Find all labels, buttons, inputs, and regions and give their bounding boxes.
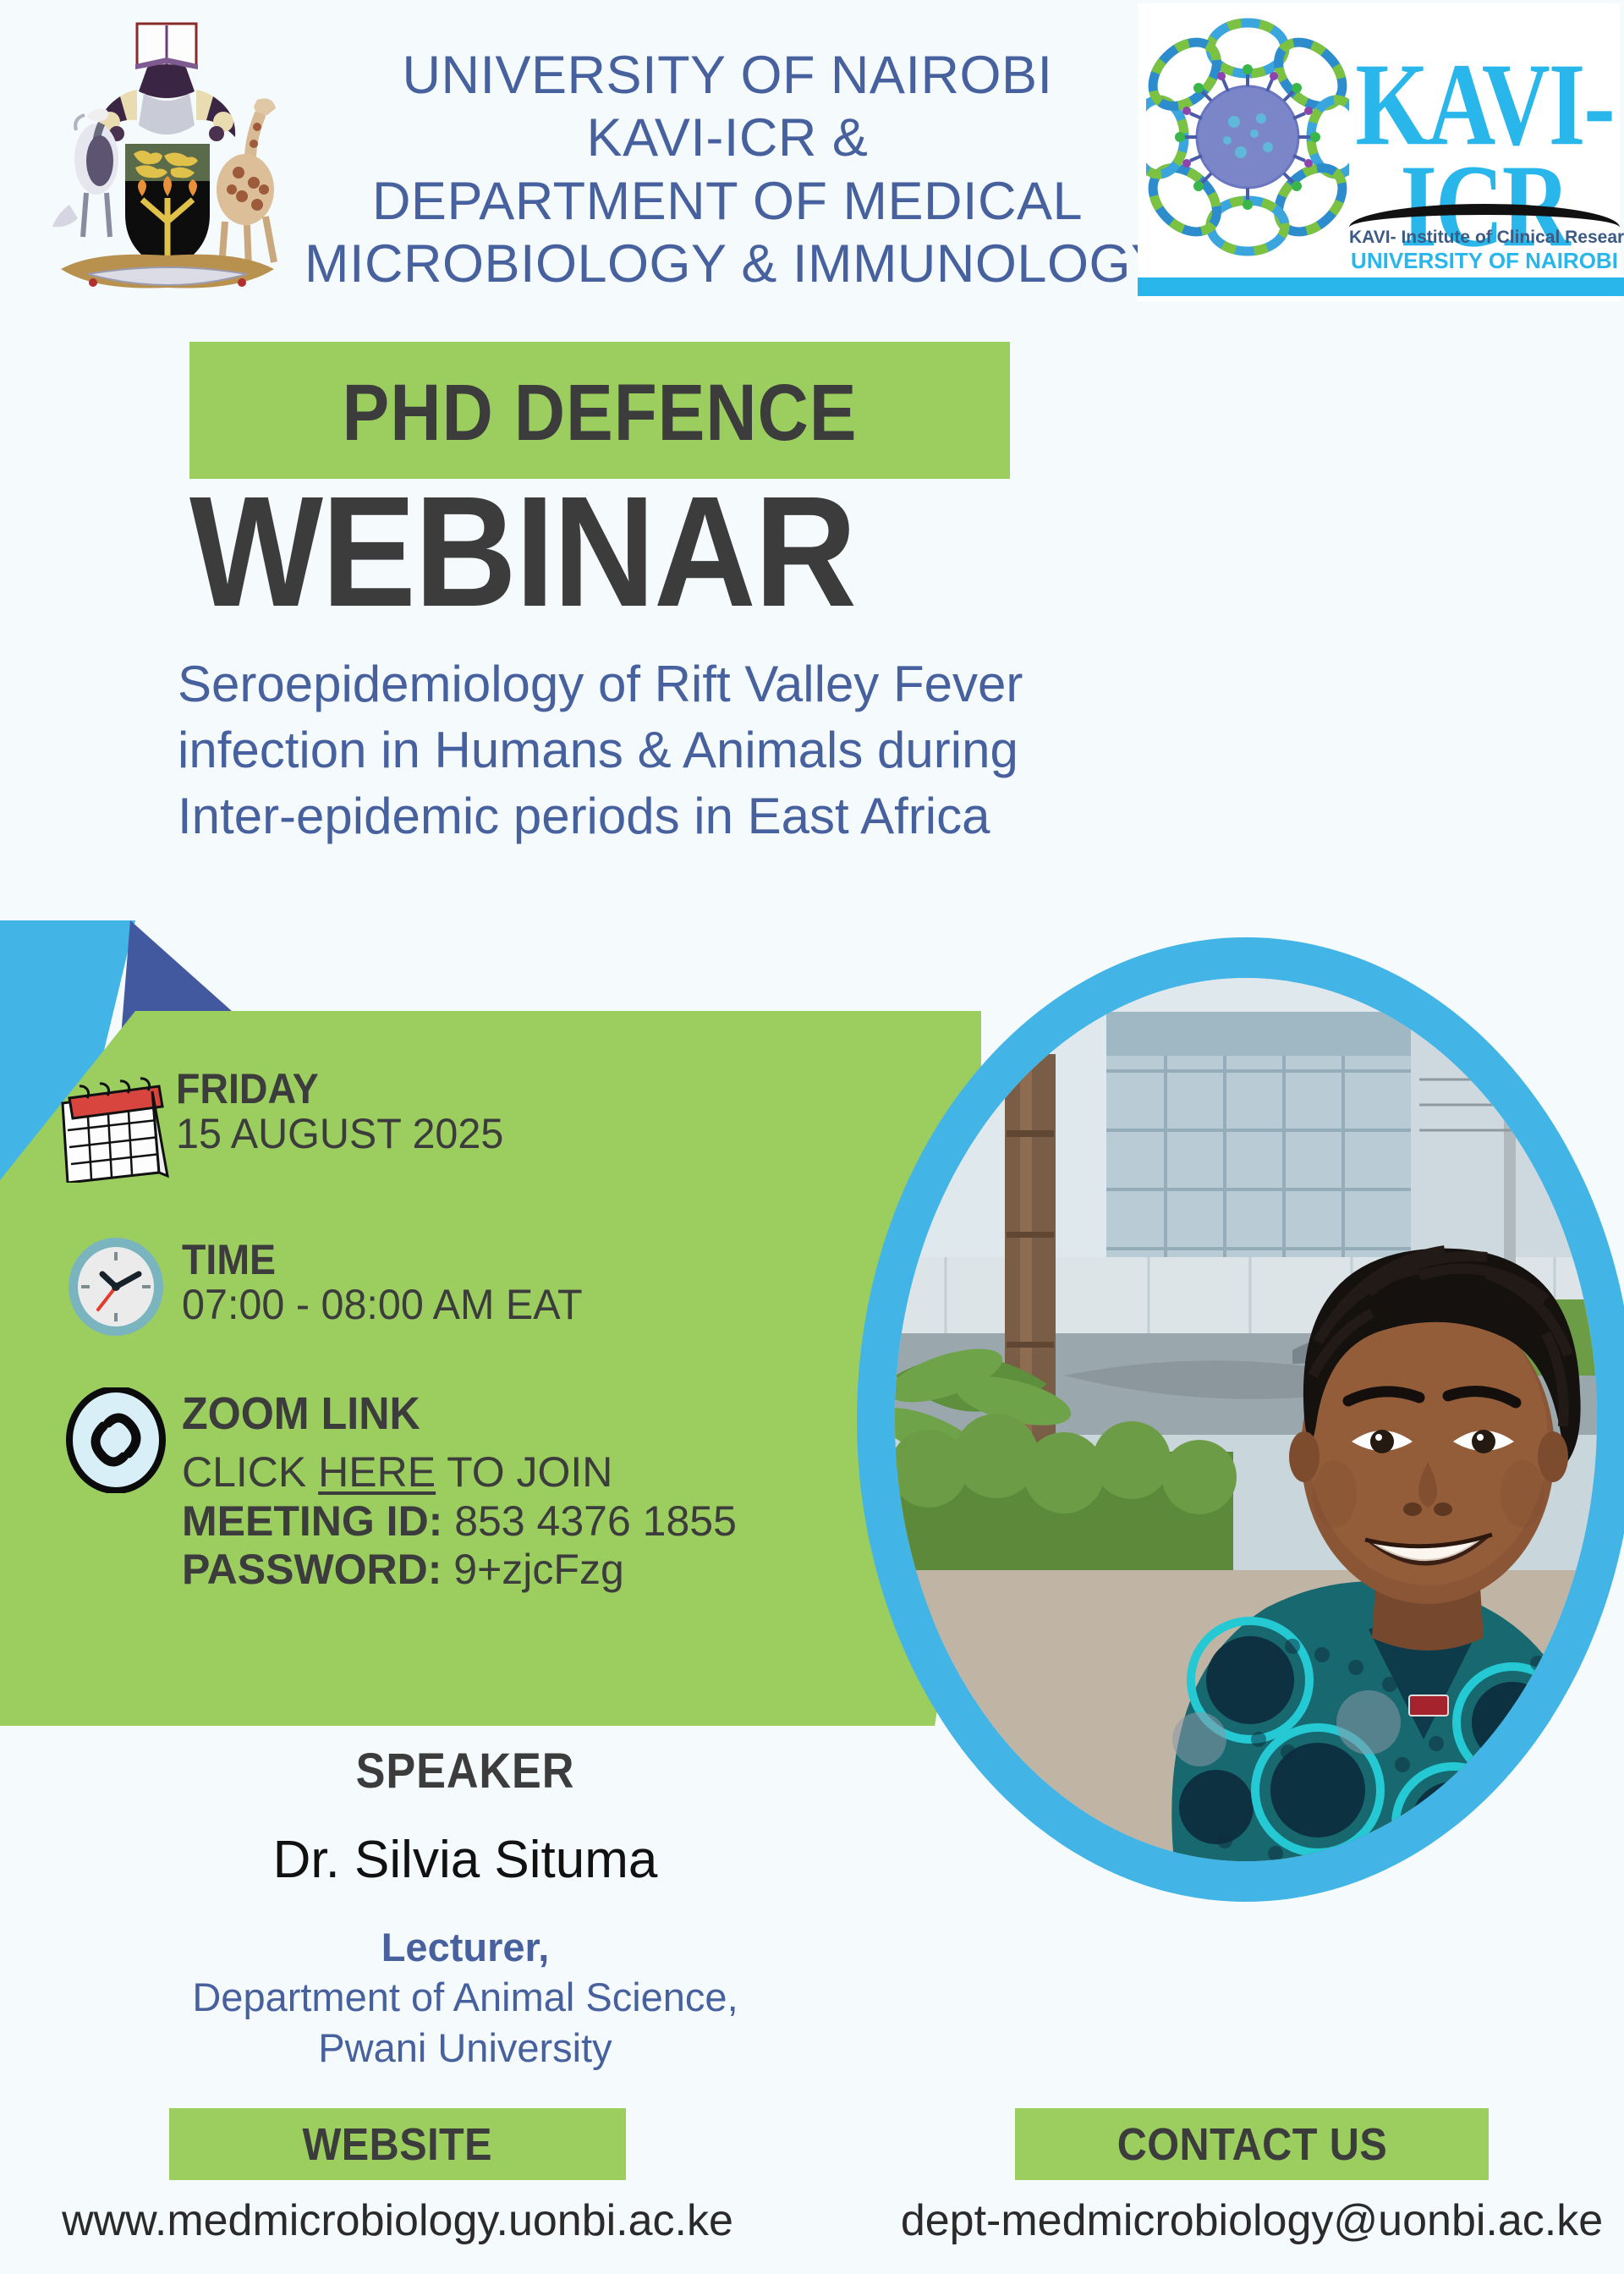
page-title: WEBINAR (189, 474, 951, 631)
date-day-label: FRIDAY (176, 1068, 490, 1110)
contact-label: CONTACT US (1116, 2118, 1386, 2171)
website-url[interactable]: www.medmicrobiology.uonbi.ac.ke (25, 2195, 770, 2246)
university-coat-of-arms-icon (36, 15, 298, 294)
website-badge: WEBSITE (169, 2108, 626, 2180)
speaker-department: Department of Animal Science, (118, 1974, 812, 2021)
org-line-2: KAVI-ICR & (304, 107, 1150, 169)
org-line-4: MICROBIOLOGY & IMMUNOLOGY (304, 233, 1150, 295)
clock-icon (66, 1237, 166, 1337)
password-value: 9+zjcFzg (442, 1546, 623, 1593)
phd-defence-badge: PHD DEFENCE (189, 342, 1010, 479)
kavi-logo-bottom-bar (1138, 277, 1624, 296)
webinar-subtitle: Seroepidemiology of Rift Valley Fever in… (178, 651, 1125, 849)
date-value: 15 AUGUST 2025 (176, 1110, 503, 1157)
zoom-join-line[interactable]: CLICK HERE TO JOIN (182, 1448, 737, 1497)
speaker-heading: SPEAKER (153, 1743, 777, 1799)
time-label: TIME (182, 1239, 566, 1281)
speaker-name: Dr. Silvia Situma (118, 1830, 812, 1890)
join-suffix: TO JOIN (436, 1448, 612, 1496)
contact-email[interactable]: dept-medmicrobiology@uonbi.ac.ke (880, 2195, 1624, 2246)
header-org-titles: UNIVERSITY OF NAIROBI KAVI-ICR & DEPARTM… (304, 44, 1150, 295)
join-here-link[interactable]: HERE (318, 1448, 436, 1496)
org-line-3: DEPARTMENT OF MEDICAL (304, 170, 1150, 233)
calendar-icon (51, 1073, 178, 1183)
speaker-portrait-photo (895, 978, 1597, 1861)
speaker-institution: Pwani University (118, 2024, 812, 2072)
website-label: WEBSITE (303, 2118, 493, 2171)
kavi-subtitle-university: UNIVERSITY OF NAIROBI (1349, 248, 1620, 274)
dna-virus-rosette-icon (1146, 10, 1349, 264)
password-line: PASSWORD: 9+zjcFzg (182, 1546, 737, 1595)
time-value: 07:00 - 08:00 AM EAT (182, 1281, 583, 1328)
phd-defence-label: PHD DEFENCE (239, 367, 961, 459)
org-line-1: UNIVERSITY OF NAIROBI (304, 44, 1150, 107)
password-label: PASSWORD: (182, 1546, 442, 1593)
join-prefix: CLICK (182, 1448, 318, 1496)
kavi-subtitle-institute: KAVI- Institute of Clinical Research (1349, 228, 1620, 248)
poster-header: UNIVERSITY OF NAIROBI KAVI-ICR & DEPARTM… (0, 0, 1624, 300)
link-icon[interactable] (66, 1387, 166, 1493)
kavi-icr-logo: KAVI-ICR KAVI- Institute of Clinical Res… (1138, 3, 1620, 301)
speaker-block: SPEAKER Dr. Silvia Situma Lecturer, Depa… (118, 1743, 812, 2073)
footer-website-column: WEBSITE www.medmicrobiology.uonbi.ac.ke (25, 2108, 770, 2246)
footer-contact-column: CONTACT US dept-medmicrobiology@uonbi.ac… (880, 2108, 1624, 2246)
meeting-id-value: 853 4376 1855 (442, 1497, 737, 1545)
speaker-role: Lecturer, (118, 1924, 812, 1970)
meeting-id-line: MEETING ID: 853 4376 1855 (182, 1497, 737, 1546)
meeting-id-label: MEETING ID: (182, 1497, 442, 1545)
contact-badge: CONTACT US (1015, 2108, 1489, 2180)
zoom-link-label: ZOOM LINK (182, 1387, 698, 1440)
